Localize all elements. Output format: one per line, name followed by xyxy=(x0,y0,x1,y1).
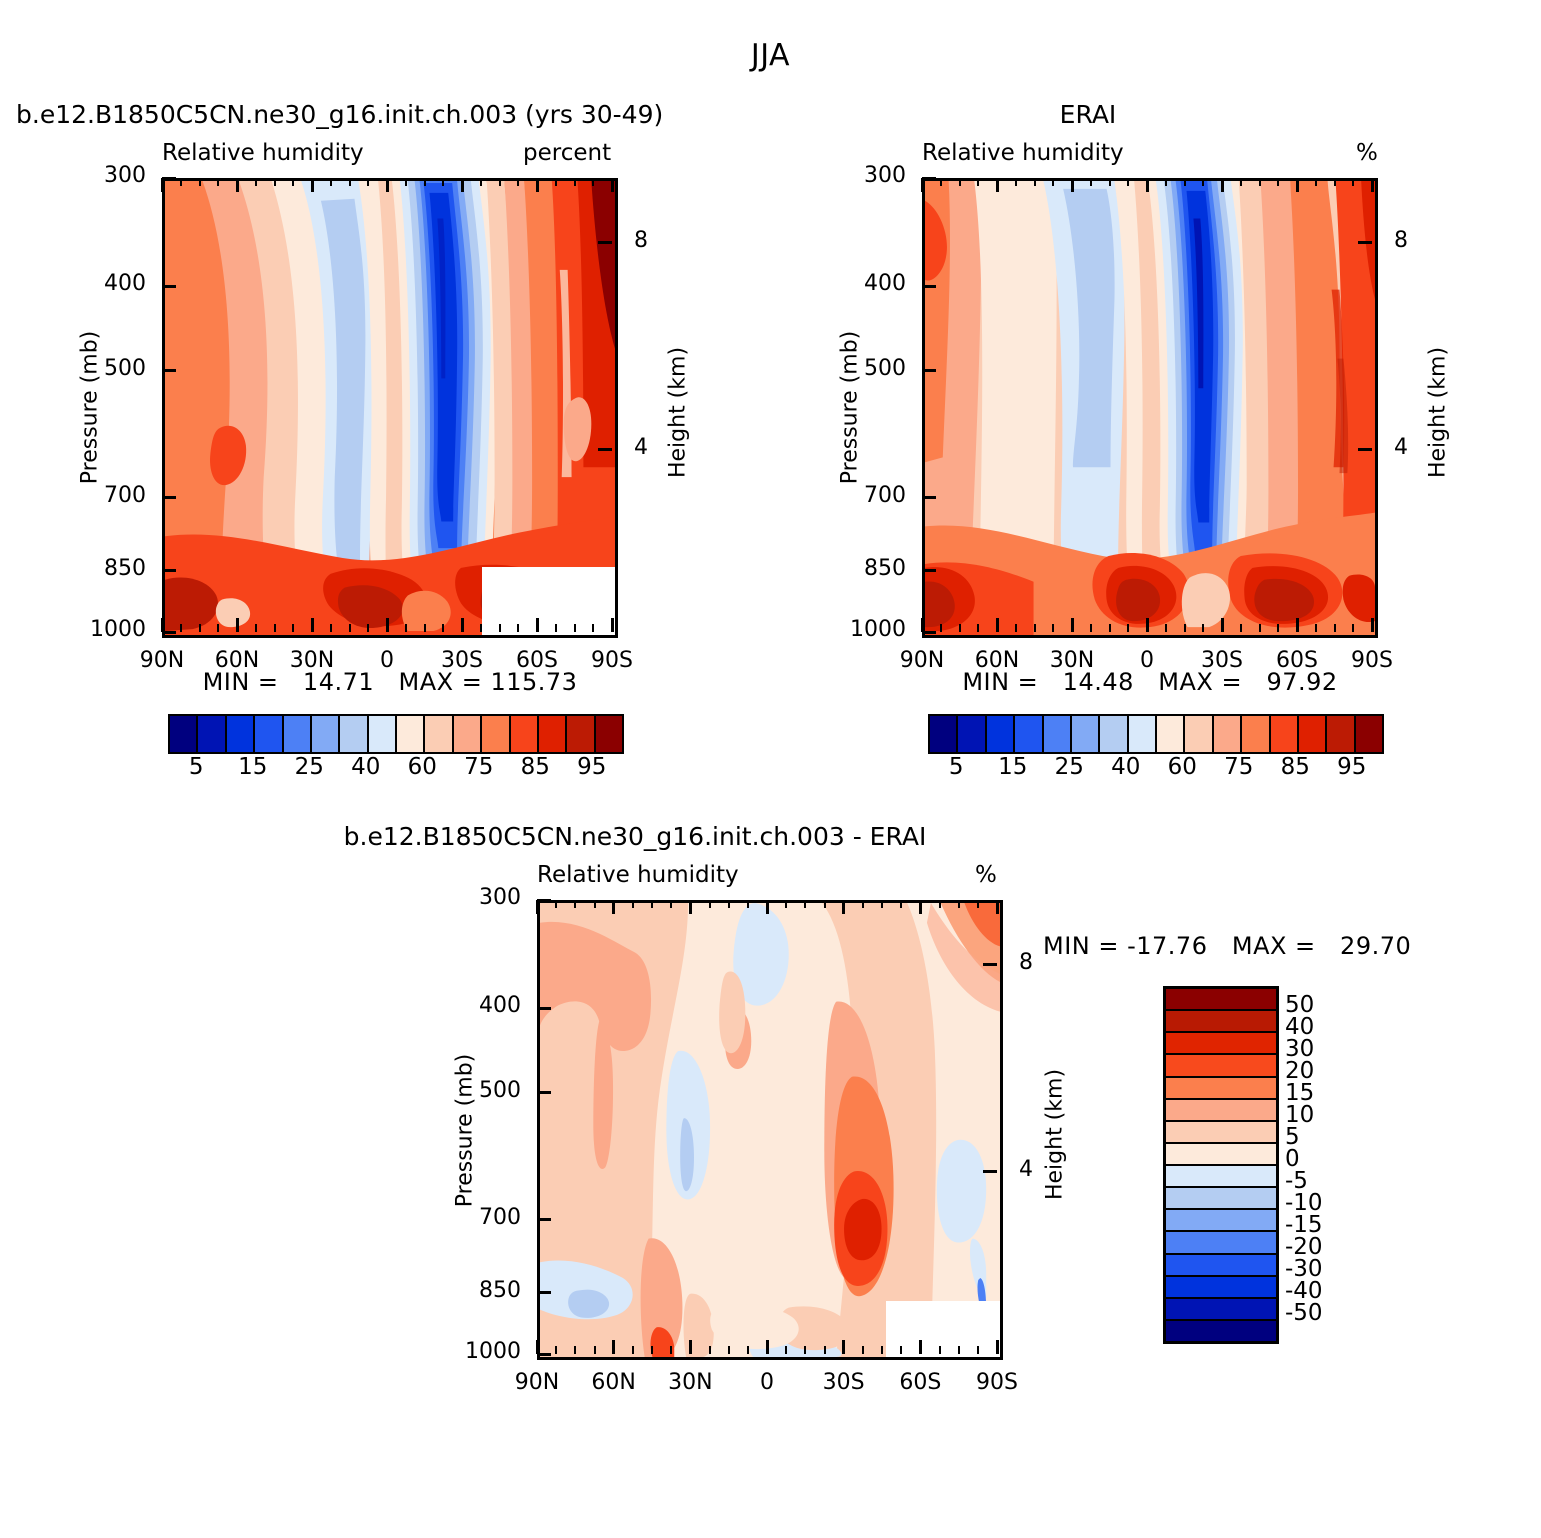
y-tick-major xyxy=(162,496,176,499)
x-tick-minor xyxy=(1202,624,1204,632)
colorbar-swatch xyxy=(987,716,1015,752)
x-tick-minor xyxy=(1109,178,1111,186)
colorbar-model xyxy=(168,714,624,754)
x-tick-major xyxy=(919,900,922,914)
y-tick-label: 300 xyxy=(441,885,521,910)
panel-model-minmax: MIN = 14.71 MAX = 115.73 xyxy=(110,668,670,696)
x-tick-minor xyxy=(709,900,711,908)
x-tick-major xyxy=(766,1340,769,1354)
x-tick-major xyxy=(996,618,999,632)
x-tick-minor xyxy=(292,178,294,186)
x-tick-minor xyxy=(1034,624,1036,632)
panel-obs-minmax: MIN = 14.48 MAX = 97.92 xyxy=(870,668,1430,696)
x-tick-minor xyxy=(900,900,902,908)
y-tick-major xyxy=(922,177,936,180)
x-tick-minor xyxy=(939,1346,941,1354)
x-tick-major xyxy=(311,618,314,632)
x-tick-minor xyxy=(881,900,883,908)
x-tick-minor xyxy=(292,624,294,632)
colorbar-swatch xyxy=(1166,1210,1276,1232)
x-tick-minor xyxy=(824,900,826,908)
colorbar-swatch xyxy=(1166,1078,1276,1100)
x-tick-label: 30N xyxy=(650,1370,730,1395)
colorbar-swatch xyxy=(170,716,198,752)
colorbar-swatch xyxy=(511,716,539,752)
panel-obs-units-label: % xyxy=(1356,140,1378,166)
x-tick-minor xyxy=(349,178,351,186)
y-tick-label: 300 xyxy=(66,163,146,188)
x-tick-minor xyxy=(480,624,482,632)
colorbar-swatch xyxy=(1157,716,1185,752)
colorbar-obs-labels: 515254060758595 xyxy=(928,754,1380,788)
y-tick-label: 400 xyxy=(441,993,521,1018)
x-tick-major xyxy=(1071,178,1074,192)
x-tick-minor xyxy=(1015,624,1017,632)
colorbar-swatch xyxy=(1166,1321,1276,1341)
colorbar-swatch xyxy=(539,716,567,752)
x-tick-minor xyxy=(632,900,634,908)
panel-model-units-label: percent xyxy=(523,140,611,166)
colorbar-swatch xyxy=(1166,1144,1276,1166)
x-tick-minor xyxy=(405,624,407,632)
x-tick-minor xyxy=(804,900,806,908)
x-tick-minor xyxy=(785,1346,787,1354)
colorbar-tick-label: 25 xyxy=(1039,754,1099,780)
x-tick-minor xyxy=(785,900,787,908)
colorbar-tick-label: 60 xyxy=(1152,754,1212,780)
colorbar-diff xyxy=(1163,986,1279,1344)
x-tick-minor xyxy=(1277,178,1279,186)
y-tick-major xyxy=(922,569,936,572)
panel-diff-plot-area xyxy=(537,900,1003,1360)
x-tick-major xyxy=(611,618,614,632)
x-tick-major xyxy=(1221,178,1224,192)
y-tick-major xyxy=(922,285,936,288)
x-tick-major xyxy=(1146,618,1149,632)
x-tick-label: 90N xyxy=(497,1370,577,1395)
x-tick-label: 60N xyxy=(574,1370,654,1395)
x-tick-minor xyxy=(594,900,596,908)
colorbar-tick-label: 5 xyxy=(926,754,986,780)
x-tick-minor xyxy=(977,624,979,632)
colorbar-swatch xyxy=(930,716,958,752)
x-tick-minor xyxy=(1052,178,1054,186)
y-tick-label: 1000 xyxy=(441,1339,521,1364)
colorbar-swatch xyxy=(1271,716,1299,752)
y2-tick-label: 8 xyxy=(1019,950,1033,975)
colorbar-swatch xyxy=(425,716,453,752)
colorbar-tick-label: 95 xyxy=(562,754,622,780)
x-tick-label: 60S xyxy=(880,1370,960,1395)
x-tick-minor xyxy=(555,178,557,186)
x-tick-minor xyxy=(555,900,557,908)
x-tick-minor xyxy=(728,1346,730,1354)
x-tick-major xyxy=(386,178,389,192)
x-tick-minor xyxy=(824,1346,826,1354)
colorbar-swatch xyxy=(1166,1122,1276,1144)
x-tick-minor xyxy=(405,178,407,186)
colorbar-swatch xyxy=(958,716,986,752)
y-tick-label: 850 xyxy=(66,556,146,581)
x-tick-minor xyxy=(255,178,257,186)
panel-model-plot-area xyxy=(162,178,618,638)
x-tick-minor xyxy=(862,900,864,908)
x-tick-minor xyxy=(747,1346,749,1354)
y-tick-label: 700 xyxy=(66,483,146,508)
x-tick-minor xyxy=(517,178,519,186)
x-tick-minor xyxy=(180,624,182,632)
colorbar-swatch xyxy=(284,716,312,752)
colorbar-swatch xyxy=(1166,1011,1276,1033)
x-tick-minor xyxy=(804,1346,806,1354)
colorbar-swatch xyxy=(1166,1277,1276,1299)
x-tick-minor xyxy=(940,178,942,186)
panel-diff-title: b.e12.B1850C5CN.ne30_g16.init.ch.003 - E… xyxy=(315,822,955,851)
y-tick-major xyxy=(162,177,176,180)
x-tick-minor xyxy=(1090,624,1092,632)
x-tick-major xyxy=(386,618,389,632)
x-tick-minor xyxy=(1034,178,1036,186)
x-tick-major xyxy=(919,1340,922,1354)
x-tick-minor xyxy=(632,1346,634,1354)
x-tick-major xyxy=(461,618,464,632)
colorbar-swatch xyxy=(1299,716,1327,752)
panel-model-y2axis-label: Height (km) xyxy=(666,298,691,528)
x-tick-minor xyxy=(1109,624,1111,632)
x-tick-minor xyxy=(977,1346,979,1354)
colorbar-tick-label: 40 xyxy=(336,754,396,780)
x-tick-major xyxy=(461,178,464,192)
x-tick-major xyxy=(536,618,539,632)
y-tick-major xyxy=(922,631,936,634)
colorbar-swatch xyxy=(1100,716,1128,752)
colorbar-swatch xyxy=(1185,716,1213,752)
x-tick-label: 30S xyxy=(804,1370,884,1395)
x-tick-minor xyxy=(217,624,219,632)
y2-tick-major xyxy=(983,963,997,966)
colorbar-swatch xyxy=(1166,1188,1276,1210)
colorbar-swatch xyxy=(1166,1299,1276,1321)
x-tick-major xyxy=(612,900,615,914)
y-tick-major xyxy=(922,496,936,499)
x-tick-minor xyxy=(670,1346,672,1354)
y-tick-major xyxy=(537,899,551,902)
colorbar-swatch xyxy=(1166,1055,1276,1077)
colorbar-swatch xyxy=(1166,1033,1276,1055)
x-tick-minor xyxy=(517,624,519,632)
colorbar-tick-label: 25 xyxy=(279,754,339,780)
y-tick-major xyxy=(162,631,176,634)
x-tick-minor xyxy=(670,900,672,908)
colorbar-swatch xyxy=(312,716,340,752)
y-tick-label: 400 xyxy=(826,271,906,296)
y-tick-label: 1000 xyxy=(826,617,906,642)
y-tick-major xyxy=(922,369,936,372)
x-tick-minor xyxy=(958,900,960,908)
x-tick-minor xyxy=(217,178,219,186)
panel-obs-title: ERAI xyxy=(860,100,1316,129)
x-tick-minor xyxy=(1334,624,1336,632)
colorbar-swatch xyxy=(1327,716,1355,752)
x-tick-minor xyxy=(1202,178,1204,186)
x-tick-major xyxy=(996,1340,999,1354)
x-tick-minor xyxy=(442,178,444,186)
colorbar-swatch xyxy=(1166,989,1276,1011)
x-tick-minor xyxy=(958,1346,960,1354)
x-tick-minor xyxy=(424,624,426,632)
x-tick-minor xyxy=(1334,178,1336,186)
colorbar-tick-label: 15 xyxy=(223,754,283,780)
y-tick-label: 300 xyxy=(826,163,906,188)
colorbar-swatch xyxy=(1166,1255,1276,1277)
x-tick-minor xyxy=(959,624,961,632)
colorbar-swatch xyxy=(567,716,595,752)
panel-obs-contour-field xyxy=(925,181,1375,635)
x-tick-minor xyxy=(1352,624,1354,632)
y2-tick-major xyxy=(1358,448,1372,451)
colorbar-swatch xyxy=(1044,716,1072,752)
colorbar-swatch xyxy=(227,716,255,752)
x-tick-minor xyxy=(862,1346,864,1354)
x-tick-major xyxy=(311,178,314,192)
panel-diff-variable-label: Relative humidity xyxy=(537,862,739,888)
panel-obs-variable-label: Relative humidity xyxy=(922,140,1124,166)
y-tick-major xyxy=(162,285,176,288)
x-tick-major xyxy=(611,178,614,192)
x-tick-minor xyxy=(977,900,979,908)
x-tick-minor xyxy=(349,624,351,632)
x-tick-minor xyxy=(274,624,276,632)
x-tick-minor xyxy=(442,624,444,632)
x-tick-minor xyxy=(499,178,501,186)
x-tick-minor xyxy=(1165,178,1167,186)
colorbar-tick-label: 15 xyxy=(983,754,1043,780)
y-tick-label: 850 xyxy=(441,1278,521,1303)
x-tick-minor xyxy=(480,178,482,186)
x-tick-minor xyxy=(1259,178,1261,186)
colorbar-model-labels: 515254060758595 xyxy=(168,754,620,788)
colorbar-swatch xyxy=(198,716,226,752)
x-tick-minor xyxy=(881,1346,883,1354)
x-tick-major xyxy=(766,900,769,914)
x-tick-label: 90S xyxy=(957,1370,1037,1395)
x-tick-major xyxy=(1146,178,1149,192)
x-tick-minor xyxy=(1184,624,1186,632)
x-tick-major xyxy=(161,178,164,192)
x-tick-minor xyxy=(1015,178,1017,186)
x-tick-minor xyxy=(959,178,961,186)
colorbar-swatch xyxy=(482,716,510,752)
x-tick-minor xyxy=(651,1346,653,1354)
x-tick-minor xyxy=(1184,178,1186,186)
x-tick-label: 0 xyxy=(727,1370,807,1395)
x-tick-minor xyxy=(1240,624,1242,632)
colorbar-swatch xyxy=(1356,716,1382,752)
x-tick-major xyxy=(1371,178,1374,192)
x-tick-minor xyxy=(939,900,941,908)
colorbar-swatch xyxy=(340,716,368,752)
panel-obs-y2axis-label: Height (km) xyxy=(1426,298,1451,528)
y-tick-major xyxy=(162,369,176,372)
y-tick-label: 700 xyxy=(826,483,906,508)
colorbar-swatch xyxy=(1242,716,1270,752)
x-tick-major xyxy=(536,178,539,192)
x-tick-minor xyxy=(180,178,182,186)
x-tick-minor xyxy=(574,178,576,186)
colorbar-swatch xyxy=(1166,1166,1276,1188)
y-tick-label: 1000 xyxy=(66,617,146,642)
colorbar-swatch xyxy=(454,716,482,752)
x-tick-minor xyxy=(1277,624,1279,632)
x-tick-minor xyxy=(940,624,942,632)
x-tick-minor xyxy=(709,1346,711,1354)
y-tick-major xyxy=(537,1291,551,1294)
x-tick-minor xyxy=(1052,624,1054,632)
x-tick-minor xyxy=(574,900,576,908)
colorbar-swatch xyxy=(397,716,425,752)
x-tick-minor xyxy=(1315,624,1317,632)
colorbar-tick-label: -50 xyxy=(1285,1300,1323,1326)
y2-tick-label: 4 xyxy=(1394,435,1408,460)
y-tick-major xyxy=(537,1218,551,1221)
panel-diff-units-label: % xyxy=(975,862,997,888)
x-tick-minor xyxy=(367,624,369,632)
y2-tick-label: 8 xyxy=(634,228,648,253)
panel-diff-terrain-mask xyxy=(886,1301,1000,1357)
panel-model-variable-label: Relative humidity xyxy=(162,140,364,166)
colorbar-tick-label: 85 xyxy=(1265,754,1325,780)
y2-tick-major xyxy=(983,1170,997,1173)
y-tick-label: 500 xyxy=(826,356,906,381)
y-tick-major xyxy=(162,569,176,572)
x-tick-minor xyxy=(651,900,653,908)
colorbar-swatch xyxy=(1072,716,1100,752)
x-tick-minor xyxy=(1127,624,1129,632)
y2-tick-label: 8 xyxy=(1394,228,1408,253)
x-tick-minor xyxy=(1127,178,1129,186)
x-tick-minor xyxy=(555,1346,557,1354)
x-tick-major xyxy=(689,900,692,914)
y-tick-major xyxy=(537,1007,551,1010)
colorbar-tick-label: 40 xyxy=(1096,754,1156,780)
x-tick-major xyxy=(1371,618,1374,632)
panel-model-terrain-mask xyxy=(482,567,615,635)
y-tick-major xyxy=(537,1091,551,1094)
x-tick-minor xyxy=(499,624,501,632)
y2-tick-major xyxy=(598,241,612,244)
colorbar-swatch xyxy=(1129,716,1157,752)
y2-tick-major xyxy=(598,448,612,451)
x-tick-minor xyxy=(367,178,369,186)
x-tick-major xyxy=(236,178,239,192)
x-tick-major xyxy=(842,900,845,914)
y2-tick-label: 4 xyxy=(634,435,648,460)
x-tick-minor xyxy=(574,624,576,632)
x-tick-minor xyxy=(330,178,332,186)
colorbar-obs xyxy=(928,714,1384,754)
colorbar-swatch xyxy=(1214,716,1242,752)
x-tick-minor xyxy=(199,624,201,632)
x-tick-major xyxy=(689,1340,692,1354)
y-tick-label: 500 xyxy=(441,1078,521,1103)
x-tick-major xyxy=(1071,618,1074,632)
x-tick-minor xyxy=(594,1346,596,1354)
x-tick-major xyxy=(236,618,239,632)
x-tick-minor xyxy=(424,178,426,186)
x-tick-minor xyxy=(330,624,332,632)
colorbar-tick-label: 95 xyxy=(1322,754,1382,780)
colorbar-tick-label: 75 xyxy=(1209,754,1269,780)
x-tick-major xyxy=(1296,178,1299,192)
panel-diff-contour-field xyxy=(540,903,1000,1357)
x-tick-major xyxy=(996,900,999,914)
colorbar-tick-label: 85 xyxy=(505,754,565,780)
panel-obs-plot-area xyxy=(922,178,1378,638)
x-tick-major xyxy=(1221,618,1224,632)
panel-diff-minmax: MIN = -17.76 MAX = 29.70 xyxy=(1043,932,1411,960)
x-tick-minor xyxy=(1352,178,1354,186)
colorbar-tick-label: 60 xyxy=(392,754,452,780)
x-tick-minor xyxy=(592,624,594,632)
colorbar-diff-labels: 50403020151050-5-10-15-20-30-40-50 xyxy=(1285,986,1395,1338)
y-tick-label: 400 xyxy=(66,271,146,296)
panel-diff-y2axis-label: Height (km) xyxy=(1043,1020,1068,1250)
x-tick-minor xyxy=(199,178,201,186)
colorbar-swatch xyxy=(1015,716,1043,752)
colorbar-swatch xyxy=(596,716,622,752)
x-tick-minor xyxy=(728,900,730,908)
x-tick-minor xyxy=(592,178,594,186)
x-tick-major xyxy=(1296,618,1299,632)
panel-model-title: b.e12.B1850C5CN.ne30_g16.init.ch.003 (yr… xyxy=(16,100,663,129)
colorbar-swatch xyxy=(369,716,397,752)
x-tick-minor xyxy=(977,178,979,186)
y-tick-label: 850 xyxy=(826,556,906,581)
x-tick-minor xyxy=(1259,624,1261,632)
colorbar-swatch xyxy=(1166,1100,1276,1122)
x-tick-minor xyxy=(900,1346,902,1354)
y-tick-major xyxy=(537,1353,551,1356)
x-tick-minor xyxy=(747,900,749,908)
colorbar-tick-label: 5 xyxy=(166,754,226,780)
x-tick-minor xyxy=(1090,178,1092,186)
x-tick-minor xyxy=(574,1346,576,1354)
panel-diff: b.e12.B1850C5CN.ne30_g16.init.ch.003 - E… xyxy=(375,720,1135,1440)
x-tick-major xyxy=(921,178,924,192)
colorbar-swatch xyxy=(255,716,283,752)
y2-tick-major xyxy=(1358,241,1372,244)
y-tick-label: 700 xyxy=(441,1205,521,1230)
x-tick-minor xyxy=(1240,178,1242,186)
y-tick-label: 500 xyxy=(66,356,146,381)
x-tick-minor xyxy=(555,624,557,632)
y2-tick-label: 4 xyxy=(1019,1157,1033,1182)
colorbar-tick-label: 75 xyxy=(449,754,509,780)
colorbar-swatch xyxy=(1166,1232,1276,1254)
x-tick-major xyxy=(842,1340,845,1354)
x-tick-minor xyxy=(255,624,257,632)
x-tick-minor xyxy=(1165,624,1167,632)
x-tick-major xyxy=(536,900,539,914)
x-tick-minor xyxy=(1315,178,1317,186)
x-tick-major xyxy=(996,178,999,192)
x-tick-major xyxy=(612,1340,615,1354)
x-tick-minor xyxy=(274,178,276,186)
